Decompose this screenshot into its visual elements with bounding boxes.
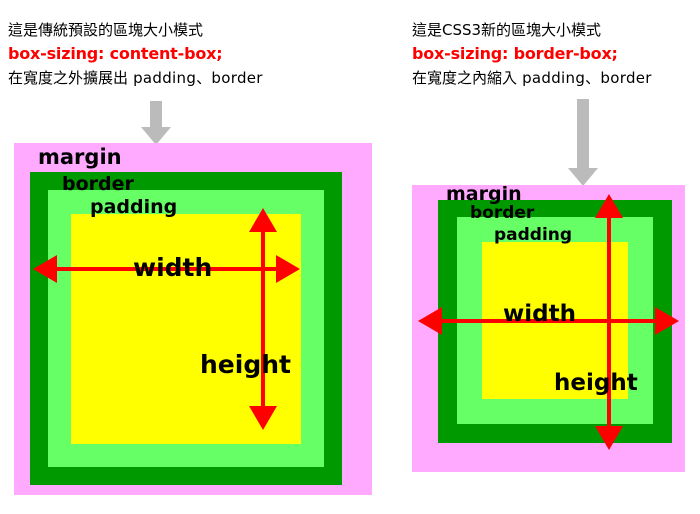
measure-bar bbox=[261, 218, 265, 420]
down-arrow-icon bbox=[567, 99, 599, 186]
width-label: width bbox=[133, 255, 212, 280]
caption-behavior-thin: padding、border bbox=[517, 69, 652, 87]
height-label: height bbox=[200, 352, 291, 377]
caption-line-css-declaration: box-sizing: border-box; bbox=[412, 42, 652, 66]
caption-line-css-declaration: box-sizing: content-box; bbox=[8, 42, 263, 66]
margin-label: margin bbox=[446, 185, 522, 204]
padding-label: padding bbox=[90, 198, 177, 217]
border-label: border bbox=[470, 205, 534, 222]
caption-behavior-bold: 在寬度之內縮入 bbox=[412, 69, 517, 87]
arrow-head-up bbox=[595, 194, 623, 218]
padding-label: padding bbox=[494, 227, 572, 244]
width-label: width bbox=[503, 303, 576, 326]
content-box-diagram: margin border padding bbox=[14, 143, 372, 495]
caption-behavior-thin: padding、border bbox=[128, 69, 263, 87]
arrow-shaft bbox=[150, 101, 162, 128]
margin-label: margin bbox=[38, 147, 122, 168]
caption-line-behavior: 在寬度之內縮入 padding、border bbox=[412, 66, 652, 90]
border-box-caption: 這是CSS3新的區塊大小模式 box-sizing: border-box; 在… bbox=[412, 18, 652, 90]
arrow-shaft bbox=[577, 99, 589, 169]
arrow-head-left bbox=[418, 307, 442, 335]
caption-line-description: 這是傳統預設的區塊大小模式 bbox=[8, 18, 263, 42]
arrow-head-right bbox=[655, 307, 679, 335]
arrow-head-right bbox=[276, 255, 300, 283]
height-measure-arrow bbox=[248, 208, 278, 430]
arrow-head-up bbox=[249, 208, 277, 232]
arrow-head bbox=[568, 168, 598, 186]
down-arrow-icon bbox=[140, 101, 172, 145]
content-box-caption: 這是傳統預設的區塊大小模式 box-sizing: content-box; 在… bbox=[8, 18, 263, 90]
arrow-head-down bbox=[249, 406, 277, 430]
height-label: height bbox=[554, 372, 638, 395]
content-box-panel: 這是傳統預設的區塊大小模式 box-sizing: content-box; 在… bbox=[0, 0, 400, 514]
arrow-head-left bbox=[33, 255, 57, 283]
arrow-head-down bbox=[595, 426, 623, 450]
caption-line-description: 這是CSS3新的區塊大小模式 bbox=[412, 18, 652, 42]
border-label: border bbox=[62, 175, 134, 194]
caption-behavior-bold: 在寬度之外擴展出 bbox=[8, 69, 128, 87]
height-measure-arrow bbox=[594, 194, 624, 450]
measure-bar bbox=[607, 204, 611, 440]
caption-line-behavior: 在寬度之外擴展出 padding、border bbox=[8, 66, 263, 90]
